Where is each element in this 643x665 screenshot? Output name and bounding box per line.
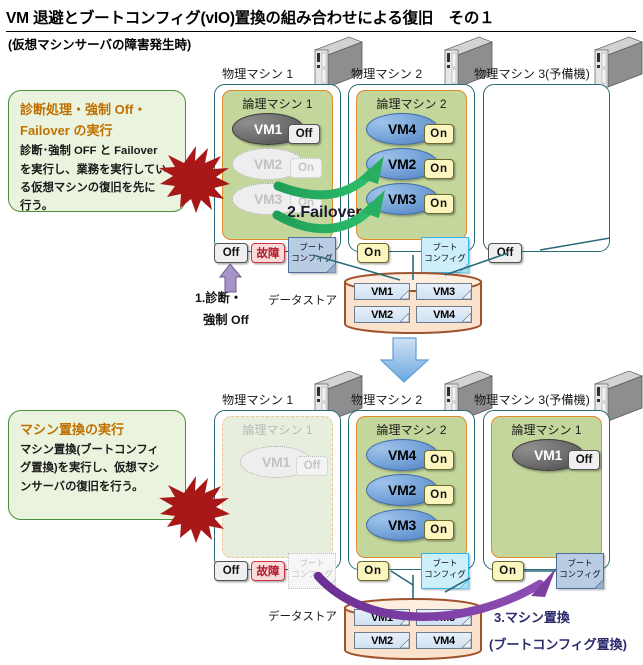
ds-file-label: VM3 xyxy=(433,612,455,624)
pm3-label-top: 物理マシン 3(予備機) xyxy=(474,64,590,82)
chip-label: On xyxy=(430,198,448,210)
datastore-file-bottom-1: VM3 xyxy=(416,609,472,626)
failover-annotation: 2.Failover xyxy=(287,204,362,222)
pm3-bootconfig-bottom: ブート コンフィグ xyxy=(556,553,604,589)
datastore-file-top-3: VM4 xyxy=(416,306,472,323)
vm-label: VM3 xyxy=(388,191,416,207)
pm1-label-top: 物理マシン 1 xyxy=(222,64,293,82)
lm1-box-bottom: 論理マシン 1 xyxy=(222,416,333,558)
vm-label: VM2 xyxy=(388,482,416,498)
ds-file-label: VM2 xyxy=(371,309,393,321)
chip-label: On xyxy=(298,162,314,174)
vm-label: VM3 xyxy=(388,517,416,533)
lm1-title-bottom: 論理マシン 1 xyxy=(223,417,332,438)
vm4-state-chip-top: On xyxy=(424,124,454,144)
chip-label: Off xyxy=(304,460,321,472)
bootcfg-line1: ブート xyxy=(289,558,335,569)
datastore-label-top: データストア xyxy=(268,292,337,308)
vm-label: VM1 xyxy=(534,447,562,463)
pm1-off-chip-top: Off xyxy=(214,243,248,263)
bootcfg-line1: ブート xyxy=(557,558,603,569)
chip-label: Off xyxy=(296,128,313,140)
callout-box-1: 診断処理・強制 Off・ Failover の実行 診断･強制 OFF と Fa… xyxy=(8,90,186,212)
step1-line1: 1.診断・ xyxy=(195,288,242,306)
callout-2-body-line2: グ置換)を実行し、仮想マシ xyxy=(20,459,176,477)
chip-label: Off xyxy=(497,247,514,259)
callout-1-body-line1: 診断･強制 OFF と Failover xyxy=(20,142,176,160)
chip-label: On xyxy=(430,524,448,536)
pm1-fault-chip-top: 故障 xyxy=(251,243,285,263)
vm-label: VM3 xyxy=(254,191,282,207)
datastore-links-bottom xyxy=(391,571,556,600)
pm3-label-bottom: 物理マシン 3(予備機) xyxy=(474,390,590,408)
callout-1-title-line2: Failover の実行 xyxy=(20,121,176,141)
datastore-file-top-2: VM2 xyxy=(354,306,410,323)
ds-file-label: VM1 xyxy=(371,286,393,298)
datastore-top xyxy=(343,272,483,334)
section-transition-arrow xyxy=(381,338,428,382)
pm1-bootconfig-bottom: ブート コンフィグ xyxy=(288,553,336,589)
pm2-label-bottom: 物理マシン 2 xyxy=(351,390,422,408)
lm2-title-top: 論理マシン 2 xyxy=(357,91,466,112)
datastore-file-bottom-3: VM4 xyxy=(416,632,472,649)
vm2-state-chip-top-pm1: On xyxy=(290,158,322,178)
chip-label: On xyxy=(364,565,382,577)
pm2-bootconfig-top: ブート コンフィグ xyxy=(421,237,469,273)
bootcfg-line1: ブート xyxy=(289,242,335,253)
vm1-state-chip-top: Off xyxy=(288,124,320,144)
chip-label: 故障 xyxy=(257,563,280,579)
vm-label: VM2 xyxy=(388,156,416,172)
ds-file-label: VM2 xyxy=(371,635,393,647)
chip-label: On xyxy=(430,489,448,501)
datastore-file-bottom-2: VM2 xyxy=(354,632,410,649)
page-subtitle: (仮想マシンサーバの障害発生時) xyxy=(8,34,191,53)
pm3-off-chip-top: Off xyxy=(488,243,522,263)
datastore-file-bottom-0: VM1 xyxy=(354,609,410,626)
callout-1-body-line3: る仮想マシンの復旧を先に xyxy=(20,179,176,197)
vm4-state-chip-bottom: On xyxy=(424,450,454,470)
vm-label: VM4 xyxy=(388,447,416,463)
pm1-bootconfig-top: ブート コンフィグ xyxy=(288,237,336,273)
page-title: VM 退避とブートコンフィグ(vIO)置換の組み合わせによる復旧 その１ xyxy=(6,6,636,32)
chip-label: On xyxy=(364,247,382,259)
datastore-file-top-0: VM1 xyxy=(354,283,410,300)
datastore-file-top-1: VM3 xyxy=(416,283,472,300)
step3-line1: 3.マシン置換 xyxy=(494,607,570,626)
pm1-off-chip-bottom: Off xyxy=(214,561,248,581)
pm1-label-bottom: 物理マシン 1 xyxy=(222,390,293,408)
callout-1-title-line1: 診断処理・強制 Off・ xyxy=(20,100,176,120)
vm3-state-chip-bottom: On xyxy=(424,520,454,540)
diagram-canvas: VM 退避とブートコンフィグ(vIO)置換の組み合わせによる復旧 その１ (仮想… xyxy=(0,0,643,664)
ds-file-label: VM1 xyxy=(371,612,393,624)
vm1-state-chip-bottom-pm3: Off xyxy=(568,450,600,470)
lm1-box-bottom-pm3: 論理マシン 1 xyxy=(491,416,602,558)
callout-box-2: マシン置換の実行 マシン置換(ブートコンフィ グ置換)を実行し、仮想マシ ンサー… xyxy=(8,410,186,520)
callout-1-body-line2: を実行し、業務を実行してい xyxy=(20,161,176,179)
vm3-state-chip-top-pm2: On xyxy=(424,194,454,214)
vm1-state-chip-bottom-pm1: Off xyxy=(296,456,328,476)
pm3-box-top xyxy=(483,84,610,252)
vm-label: VM1 xyxy=(262,454,290,470)
vm-label: VM2 xyxy=(254,156,282,172)
bootcfg-line1: ブート xyxy=(422,242,468,253)
chip-label: Off xyxy=(223,565,240,577)
ds-file-label: VM4 xyxy=(433,635,455,647)
chip-label: Off xyxy=(223,247,240,259)
pm2-label-top: 物理マシン 2 xyxy=(351,64,422,82)
chip-label: On xyxy=(499,565,517,577)
pm2-bootconfig-bottom: ブート コンフィグ xyxy=(421,553,469,589)
datastore-bottom xyxy=(343,598,483,660)
datastore-label-bottom: データストア xyxy=(268,608,337,624)
step3-line2: (ブートコンフィグ置換) xyxy=(489,634,627,653)
chip-label: On xyxy=(430,163,448,175)
callout-2-body-line1: マシン置換(ブートコンフィ xyxy=(20,441,176,459)
pm2-on-chip-top: On xyxy=(357,243,389,263)
chip-label: 故障 xyxy=(257,245,280,261)
ds-file-label: VM3 xyxy=(433,286,455,298)
vm-label: VM4 xyxy=(388,121,416,137)
callout-2-title-line1: マシン置換の実行 xyxy=(20,420,176,440)
callout-1-body-line4: 行う。 xyxy=(20,197,176,215)
vm2-state-chip-bottom: On xyxy=(424,485,454,505)
ds-file-label: VM4 xyxy=(433,309,455,321)
lm1-title-bottom-pm3: 論理マシン 1 xyxy=(492,417,601,438)
bootcfg-line1: ブート xyxy=(422,558,468,569)
step1-line2: 強制 Off xyxy=(203,310,249,328)
vm2-state-chip-top-pm2: On xyxy=(424,159,454,179)
pm2-on-chip-bottom: On xyxy=(357,561,389,581)
chip-label: Off xyxy=(576,454,593,466)
vm-label: VM1 xyxy=(254,121,282,137)
pm1-fault-chip-bottom: 故障 xyxy=(251,561,285,581)
lm1-title-top: 論理マシン 1 xyxy=(223,91,332,112)
server-icon-pm3-top xyxy=(585,36,643,91)
pm3-on-chip-bottom: On xyxy=(492,561,524,581)
chip-label: On xyxy=(430,454,448,466)
lm2-title-bottom: 論理マシン 2 xyxy=(357,417,466,438)
callout-2-body-line3: ンサーバの復旧を行う。 xyxy=(20,478,176,496)
chip-label: On xyxy=(430,128,448,140)
